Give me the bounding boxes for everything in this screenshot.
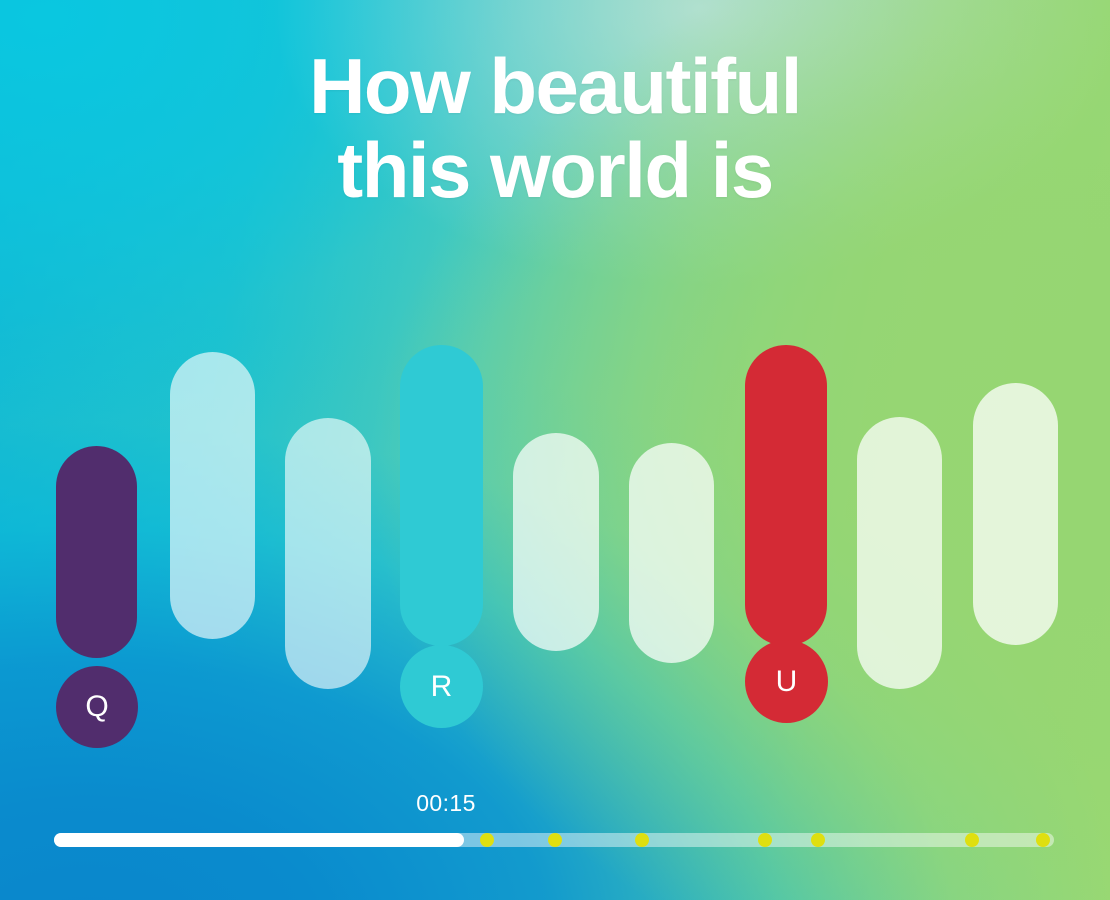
equalizer-visualizer: QRU [0,0,1110,900]
equalizer-bar-u[interactable] [745,345,827,646]
current-time-label: 00:15 [366,790,526,817]
equalizer-bar-5[interactable] [513,433,599,651]
equalizer-bar-8[interactable] [857,417,942,689]
equalizer-bar-r[interactable] [400,345,483,646]
equalizer-bar-9[interactable] [973,383,1058,645]
equalizer-bar-3[interactable] [285,418,371,689]
player-screen: How beautiful this world is QRU 00:15 [0,0,1110,900]
letter-badge-label: U [776,667,798,697]
progress-bar-fill [54,833,464,847]
letter-badge-q[interactable]: Q [56,666,138,748]
progress-marker-dot[interactable] [480,833,494,847]
letter-badge-label: R [431,672,453,702]
equalizer-bar-6[interactable] [629,443,714,663]
letter-badge-r[interactable]: R [400,645,483,728]
equalizer-bar-q[interactable] [56,446,137,658]
equalizer-bar-2[interactable] [170,352,255,639]
progress-marker-dot[interactable] [1036,833,1050,847]
letter-badge-u[interactable]: U [745,640,828,723]
progress-marker-dot[interactable] [811,833,825,847]
letter-badge-label: Q [85,692,108,722]
progress-marker-dot[interactable] [965,833,979,847]
progress-marker-dot[interactable] [548,833,562,847]
progress-marker-dot[interactable] [635,833,649,847]
progress-marker-dot[interactable] [758,833,772,847]
